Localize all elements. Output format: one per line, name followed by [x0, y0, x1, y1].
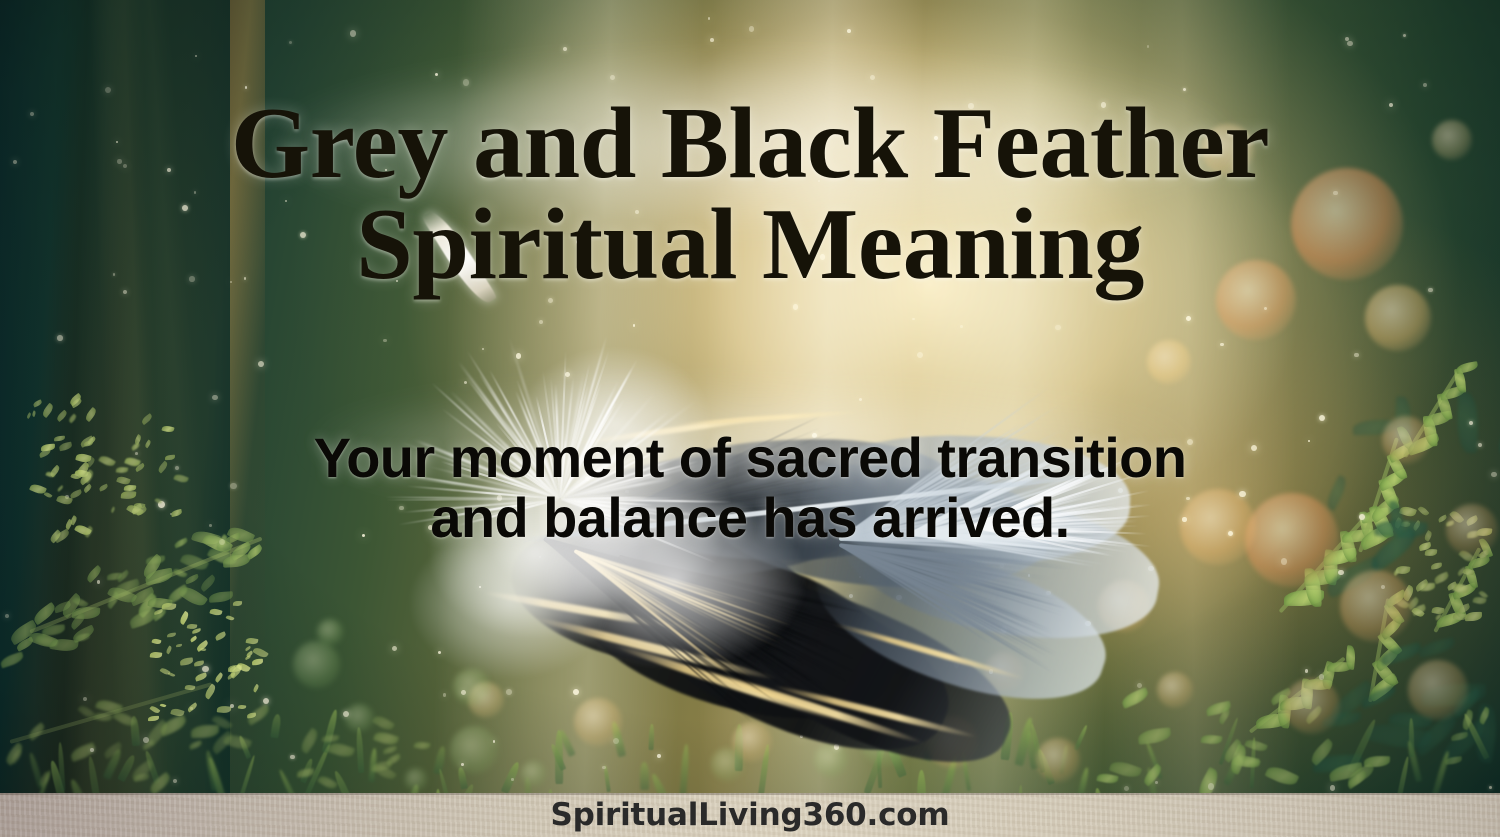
- grass-blade-icon: [1074, 725, 1089, 752]
- leaf-icon: [1308, 737, 1336, 765]
- leaf-icon: [116, 467, 128, 474]
- leaf-icon: [1433, 572, 1450, 585]
- leaf-icon: [165, 455, 175, 460]
- leaf-icon: [140, 413, 154, 425]
- footer-band: SpiritualLiving360.com: [0, 793, 1500, 837]
- leaf-icon: [1465, 612, 1482, 621]
- leaf-icon: [161, 425, 174, 434]
- leaf-icon: [29, 482, 46, 495]
- leaf-icon: [32, 399, 42, 407]
- sparkle-icon: [1220, 343, 1223, 346]
- sparkle-icon: [1403, 34, 1406, 37]
- leaf-icon: [157, 460, 170, 473]
- sparkle-icon: [105, 87, 111, 93]
- leaf-icon: [144, 440, 152, 449]
- leaf-icon: [1200, 734, 1222, 745]
- leaf-icon: [298, 727, 322, 754]
- grass-blade-icon: [648, 724, 653, 750]
- leaf-icon: [147, 772, 172, 795]
- leaf-icon: [141, 739, 155, 750]
- banner-graphic: Grey and Black Feather Spiritual Meaning…: [0, 0, 1500, 837]
- sparkle-icon: [847, 29, 851, 33]
- grass-blade-icon: [457, 766, 468, 789]
- grass-blade-icon: [864, 744, 887, 794]
- leaf-icon: [94, 711, 114, 723]
- leaf-icon: [1269, 687, 1293, 705]
- leaf-icon: [173, 472, 189, 484]
- leaf-icon: [41, 444, 55, 452]
- page-title: Grey and Black Feather Spiritual Meaning: [0, 94, 1500, 296]
- leaf-icon: [189, 740, 203, 749]
- leaf-icon: [26, 722, 46, 741]
- sparkle-icon: [258, 361, 264, 367]
- grass-blade-icon: [639, 762, 648, 790]
- grass-blade-icon: [1408, 718, 1414, 757]
- moss-icon: [147, 715, 158, 721]
- leaf-icon: [55, 410, 68, 422]
- leaf-icon: [1392, 568, 1400, 576]
- bokeh-dot-icon: [1147, 340, 1191, 384]
- grass-blade-icon: [356, 727, 365, 774]
- sparkle-icon: [289, 41, 292, 44]
- leaf-icon: [116, 475, 130, 486]
- leaf-icon: [1417, 637, 1456, 658]
- moss-icon: [251, 658, 263, 664]
- sparkle-icon: [1264, 307, 1267, 310]
- leaf-icon: [1096, 772, 1118, 785]
- leaf-icon: [1456, 361, 1480, 374]
- leaf-icon: [170, 509, 182, 517]
- sparkle-icon: [1354, 353, 1359, 358]
- grass-blade-icon: [270, 713, 282, 738]
- sparkle-icon: [749, 26, 754, 31]
- leaf-icon: [382, 745, 397, 754]
- leaf-icon: [110, 506, 116, 513]
- sparkle-icon: [57, 335, 63, 341]
- sparkle-icon: [1186, 316, 1191, 321]
- sparkle-icon: [710, 38, 714, 42]
- leaf-icon: [322, 735, 339, 743]
- moss-icon: [0, 395, 300, 595]
- leaf-icon: [83, 407, 97, 422]
- sparkle-icon: [463, 79, 469, 85]
- grass-blade-icon: [1059, 745, 1069, 774]
- grass-blade-icon: [603, 765, 611, 792]
- leaf-icon: [124, 484, 136, 491]
- grass-blade-icon: [735, 723, 743, 770]
- leaf-icon: [41, 403, 55, 418]
- sparkle-icon: [870, 75, 875, 80]
- leaf-icon: [69, 741, 98, 761]
- leaf-icon: [1425, 549, 1438, 557]
- sparkle-icon: [563, 47, 567, 51]
- leaf-icon: [155, 497, 163, 504]
- feather-down-plume: [410, 528, 610, 678]
- leaf-icon: [59, 442, 73, 451]
- leaf-icon: [134, 434, 144, 445]
- leaf-icon: [1445, 756, 1462, 765]
- leaf-icon: [1451, 732, 1469, 741]
- sparkle-icon: [1423, 83, 1427, 87]
- leaf-icon: [67, 413, 77, 423]
- leaf-icon: [296, 768, 313, 777]
- leaf-icon: [98, 454, 116, 469]
- grass-blade-icon: [679, 744, 690, 801]
- leaf-icon: [191, 725, 219, 738]
- grass-blade-icon: [501, 761, 522, 795]
- sparkle-icon: [1147, 45, 1149, 47]
- leaf-icon: [413, 741, 430, 751]
- leaf-icon: [56, 485, 63, 492]
- leaf-icon: [1477, 706, 1492, 725]
- sparkle-icon: [435, 73, 438, 76]
- grass-blade-icon: [609, 721, 625, 758]
- sparkle-icon: [350, 30, 356, 36]
- leaf-icon: [1265, 763, 1300, 789]
- leaf-icon: [1430, 562, 1442, 569]
- leaf-icon: [26, 412, 32, 419]
- leaf-icon: [327, 740, 356, 760]
- leaf-icon: [158, 714, 189, 737]
- leaf-icon: [31, 410, 36, 417]
- sparkle-icon: [708, 17, 711, 20]
- leaf-icon: [53, 435, 64, 441]
- leaf-icon: [1244, 738, 1268, 755]
- leaf-icon: [121, 490, 137, 499]
- leaf-icon: [99, 483, 110, 491]
- leaf-icon: [84, 440, 93, 446]
- sparkle-icon: [610, 75, 615, 80]
- leaf-icon: [1138, 728, 1173, 746]
- sparkle-icon: [1345, 37, 1349, 41]
- sparkle-icon: [1347, 41, 1353, 47]
- leaf-icon: [1304, 706, 1324, 725]
- sparkle-icon: [195, 55, 197, 57]
- site-url-label: SpiritualLiving360.com: [0, 793, 1500, 837]
- leaf-icon: [373, 729, 400, 747]
